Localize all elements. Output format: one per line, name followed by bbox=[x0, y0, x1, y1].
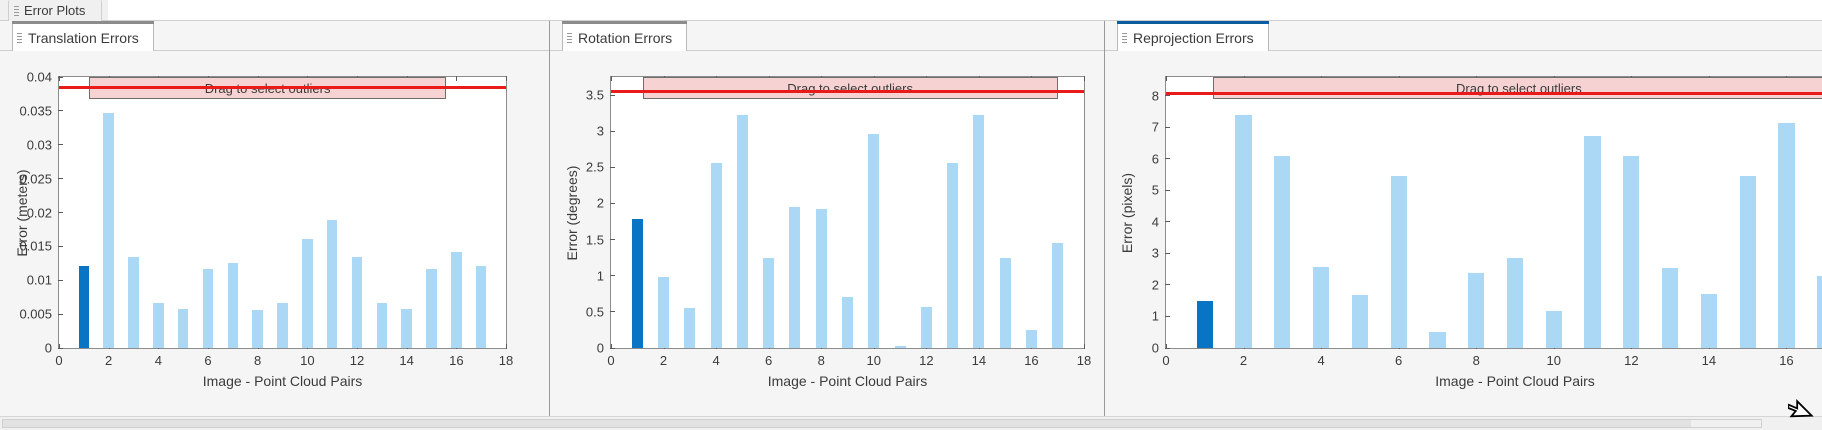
bar[interactable] bbox=[1623, 156, 1639, 348]
bar[interactable] bbox=[1391, 176, 1407, 348]
panel-rotation-errors: Rotation Errors Drag to select outliers0… bbox=[549, 21, 1104, 430]
bar[interactable] bbox=[973, 115, 984, 348]
outer-tab-label: Error Plots bbox=[24, 3, 85, 18]
bar[interactable] bbox=[128, 257, 138, 348]
x-axis-tick-top bbox=[1084, 76, 1085, 81]
plot-panels: Translation Errors Drag to select outlie… bbox=[0, 21, 1822, 430]
y-axis-tick-label: 3 bbox=[597, 124, 604, 139]
bar[interactable] bbox=[947, 163, 958, 348]
bar-series bbox=[59, 77, 506, 348]
y-axis-tick-label: 1 bbox=[597, 268, 604, 283]
bar[interactable] bbox=[842, 297, 853, 348]
y-axis-tick-label: 2.5 bbox=[586, 160, 604, 175]
y-axis-tick-label: 0.03 bbox=[27, 137, 52, 152]
x-axis-tick-label: 18 bbox=[1077, 353, 1091, 368]
tab-label: Rotation Errors bbox=[578, 30, 672, 46]
bar[interactable] bbox=[203, 269, 213, 348]
bar[interactable] bbox=[763, 258, 774, 348]
bar[interactable] bbox=[816, 209, 827, 348]
bar[interactable] bbox=[1352, 295, 1368, 348]
bar[interactable] bbox=[1429, 332, 1445, 348]
bar[interactable] bbox=[1313, 267, 1329, 348]
bar[interactable] bbox=[921, 307, 932, 348]
panel-reprojection-errors: Reprojection Errors Drag to select outli… bbox=[1104, 21, 1822, 430]
drag-grip-icon[interactable] bbox=[16, 32, 23, 44]
x-axis-tick-label: 12 bbox=[350, 353, 364, 368]
y-axis-tick-label: 6 bbox=[1152, 151, 1159, 166]
x-axis-tick-label: 6 bbox=[765, 353, 772, 368]
plot-area[interactable]: Drag to select outliers bbox=[610, 76, 1085, 349]
bar[interactable] bbox=[868, 134, 879, 348]
bar[interactable] bbox=[1584, 136, 1600, 348]
x-axis-label: Image - Point Cloud Pairs bbox=[58, 373, 507, 389]
y-axis-tick-label: 1.5 bbox=[586, 232, 604, 247]
bar[interactable] bbox=[1778, 123, 1794, 348]
tab-rotation-errors[interactable]: Rotation Errors bbox=[562, 23, 687, 51]
bar[interactable] bbox=[1197, 301, 1213, 348]
y-axis-tick-label: 0.5 bbox=[586, 304, 604, 319]
tab-accent-bar bbox=[1117, 21, 1269, 24]
bar[interactable] bbox=[1235, 115, 1251, 348]
y-axis-tick-label: 0.005 bbox=[19, 307, 52, 322]
y-axis-tick-label: 3.5 bbox=[586, 88, 604, 103]
x-axis-tick-label: 4 bbox=[155, 353, 162, 368]
x-axis-tick-label: 16 bbox=[1024, 353, 1038, 368]
bar[interactable] bbox=[228, 263, 238, 348]
tab-accent-bar bbox=[12, 21, 154, 24]
x-axis-tick-label: 18 bbox=[499, 353, 513, 368]
panel-2-body: Drag to select outliers00.511.522.533.50… bbox=[550, 51, 1104, 430]
y-axis-tick-label: 0.01 bbox=[27, 273, 52, 288]
outlier-drag-strip[interactable]: Drag to select outliers bbox=[1213, 77, 1822, 99]
panel-translation-errors: Translation Errors Drag to select outlie… bbox=[0, 21, 549, 430]
y-axis-tick-label: 2 bbox=[597, 196, 604, 211]
y-axis-tick-label: 7 bbox=[1152, 120, 1159, 135]
panel-1-body: Drag to select outliers00.0050.010.0150.… bbox=[0, 51, 549, 430]
x-axis-tick-label: 10 bbox=[300, 353, 314, 368]
x-axis-tick-label: 2 bbox=[1240, 353, 1247, 368]
bar[interactable] bbox=[103, 113, 113, 348]
error-plots-window: Error Plots Translation Errors Drag to s… bbox=[0, 0, 1822, 430]
outlier-drag-strip[interactable]: Drag to select outliers bbox=[643, 77, 1058, 99]
bar[interactable] bbox=[684, 308, 695, 348]
x-axis-tick-label: 8 bbox=[1473, 353, 1480, 368]
y-axis-tick-label: 0 bbox=[1152, 341, 1159, 356]
outer-tab-bar: Error Plots bbox=[0, 0, 1822, 21]
bar[interactable] bbox=[1274, 156, 1290, 348]
x-axis-tick-label: 0 bbox=[607, 353, 614, 368]
x-axis-tick-label: 6 bbox=[204, 353, 211, 368]
bar[interactable] bbox=[178, 309, 188, 348]
y-axis-label: Error (meters) bbox=[14, 169, 30, 256]
bar[interactable] bbox=[79, 266, 89, 348]
tab-label: Reprojection Errors bbox=[1133, 30, 1254, 46]
x-axis-tick-label: 6 bbox=[1395, 353, 1402, 368]
y-axis-tick-label: 8 bbox=[1152, 88, 1159, 103]
drag-grip-icon[interactable] bbox=[566, 32, 573, 44]
bottom-status-strip bbox=[0, 416, 1822, 430]
y-axis-tick-label: 1 bbox=[1152, 309, 1159, 324]
y-axis-tick-label: 0.02 bbox=[27, 205, 52, 220]
y-axis-tick-label: 3 bbox=[1152, 246, 1159, 261]
bar[interactable] bbox=[476, 266, 486, 348]
y-axis-tick-label: 0 bbox=[45, 341, 52, 356]
x-axis-tick-label: 10 bbox=[867, 353, 881, 368]
bar[interactable] bbox=[1507, 258, 1523, 348]
x-axis-tick-label: 16 bbox=[1779, 353, 1793, 368]
chart-rotation-errors[interactable]: Drag to select outliers00.511.522.533.50… bbox=[550, 51, 1105, 411]
drag-grip-icon[interactable] bbox=[1121, 32, 1128, 44]
plot-area[interactable]: Drag to select outliers bbox=[1165, 76, 1822, 349]
y-axis-tick-label: 2 bbox=[1152, 277, 1159, 292]
x-axis-tick-label: 2 bbox=[105, 353, 112, 368]
panel-3-tab-row: Reprojection Errors bbox=[1105, 21, 1822, 51]
bar[interactable] bbox=[352, 257, 362, 348]
x-axis-label: Image - Point Cloud Pairs bbox=[1165, 373, 1822, 389]
x-axis-tick-label: 2 bbox=[660, 353, 667, 368]
horizontal-scrollbar[interactable] bbox=[2, 419, 1762, 428]
outlier-threshold-line[interactable] bbox=[59, 86, 506, 89]
x-axis-tick-label: 4 bbox=[712, 353, 719, 368]
bar[interactable] bbox=[252, 310, 262, 348]
bar[interactable] bbox=[1662, 268, 1678, 348]
x-axis-tick-label: 8 bbox=[818, 353, 825, 368]
tab-reprojection-errors[interactable]: Reprojection Errors bbox=[1117, 23, 1269, 51]
outlier-threshold-line[interactable] bbox=[611, 90, 1084, 93]
chart-translation-errors[interactable]: Drag to select outliers00.0050.010.0150.… bbox=[0, 51, 549, 411]
x-axis-tick-label: 14 bbox=[399, 353, 413, 368]
bar[interactable] bbox=[1468, 273, 1484, 348]
bar[interactable] bbox=[426, 269, 436, 348]
bar[interactable] bbox=[737, 115, 748, 348]
x-axis-tick-label: 8 bbox=[254, 353, 261, 368]
bar[interactable] bbox=[1546, 311, 1562, 348]
bar[interactable] bbox=[1817, 276, 1822, 348]
bar[interactable] bbox=[658, 277, 669, 348]
mouse-cursor-icon bbox=[1788, 394, 1816, 428]
bar[interactable] bbox=[451, 252, 461, 348]
drag-grip-icon[interactable] bbox=[13, 5, 20, 17]
outer-tab-bar-filler bbox=[108, 0, 1822, 21]
bar[interactable] bbox=[1701, 294, 1717, 348]
bar[interactable] bbox=[153, 303, 163, 348]
x-axis-tick-top bbox=[506, 76, 507, 81]
bar[interactable] bbox=[277, 303, 287, 348]
bar[interactable] bbox=[632, 219, 643, 348]
panel-3-body: Drag to select outliers01234567802468101… bbox=[1105, 51, 1822, 430]
bar[interactable] bbox=[1026, 330, 1037, 348]
x-axis-tick-label: 16 bbox=[449, 353, 463, 368]
panel-1-tab-row: Translation Errors bbox=[0, 21, 549, 51]
plot-area[interactable]: Drag to select outliers bbox=[58, 76, 507, 349]
tab-label: Translation Errors bbox=[28, 30, 139, 46]
bar-series bbox=[1166, 77, 1822, 348]
bar[interactable] bbox=[789, 207, 800, 348]
y-axis-tick-label: 0 bbox=[597, 341, 604, 356]
y-axis-tick-label: 0.04 bbox=[27, 70, 52, 85]
bar[interactable] bbox=[327, 220, 337, 348]
panel-2-tab-row: Rotation Errors bbox=[550, 21, 1104, 51]
scrollbar-thumb[interactable] bbox=[3, 420, 1691, 427]
bar[interactable] bbox=[895, 346, 906, 348]
tab-accent-bar bbox=[562, 21, 687, 24]
bar[interactable] bbox=[1740, 176, 1756, 348]
x-axis-tick bbox=[1084, 344, 1085, 349]
bar-series bbox=[611, 77, 1084, 348]
tab-translation-errors[interactable]: Translation Errors bbox=[12, 23, 154, 51]
x-axis-label: Image - Point Cloud Pairs bbox=[610, 373, 1085, 389]
y-axis-tick-label: 5 bbox=[1152, 183, 1159, 198]
outlier-threshold-line[interactable] bbox=[1166, 92, 1822, 95]
x-axis-tick-label: 14 bbox=[1702, 353, 1716, 368]
x-axis-tick-label: 14 bbox=[972, 353, 986, 368]
x-axis-tick-label: 12 bbox=[1624, 353, 1638, 368]
bar[interactable] bbox=[377, 303, 387, 348]
bar[interactable] bbox=[1052, 243, 1063, 348]
x-axis-tick-label: 0 bbox=[55, 353, 62, 368]
x-axis-tick-label: 0 bbox=[1162, 353, 1169, 368]
bar[interactable] bbox=[401, 309, 411, 348]
x-axis-tick-label: 12 bbox=[919, 353, 933, 368]
bar[interactable] bbox=[1000, 258, 1011, 348]
y-axis-label: Error (pixels) bbox=[1119, 172, 1135, 252]
bar[interactable] bbox=[711, 163, 722, 348]
outer-tab-error-plots[interactable]: Error Plots bbox=[8, 0, 102, 21]
chart-reprojection-errors[interactable]: Drag to select outliers01234567802468101… bbox=[1105, 51, 1822, 411]
bar[interactable] bbox=[302, 239, 312, 348]
y-axis-tick-label: 4 bbox=[1152, 214, 1159, 229]
x-axis-tick-label: 4 bbox=[1317, 353, 1324, 368]
x-axis-tick-label: 10 bbox=[1547, 353, 1561, 368]
x-axis-tick bbox=[506, 344, 507, 349]
y-axis-tick-label: 0.035 bbox=[19, 103, 52, 118]
y-axis-label: Error (degrees) bbox=[564, 165, 580, 260]
